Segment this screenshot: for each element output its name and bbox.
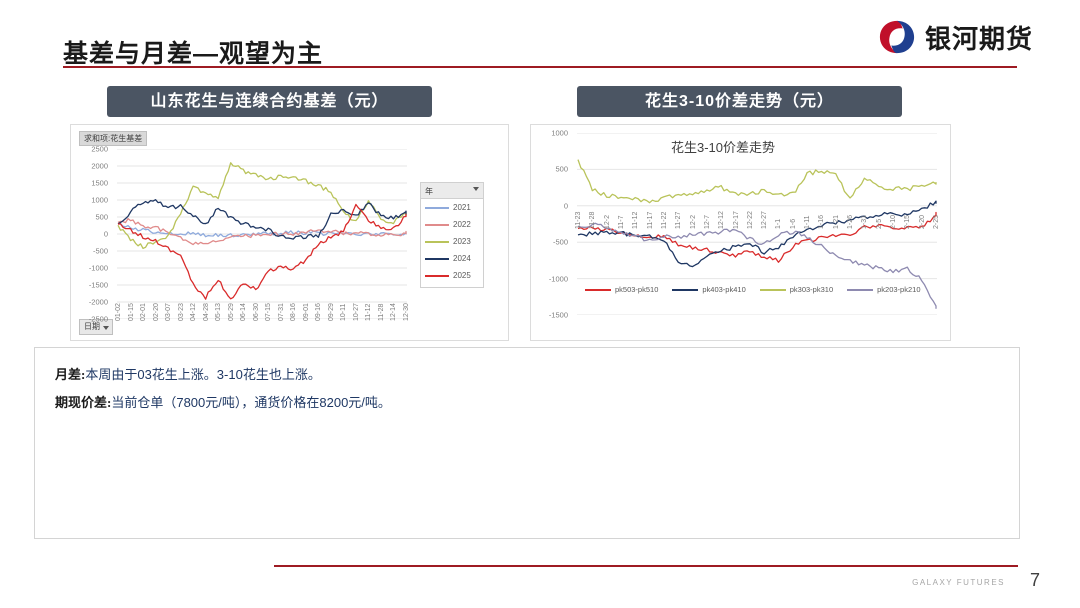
x-tick-label: 05-29	[228, 303, 235, 321]
x-tick-label: 11-23	[575, 212, 582, 229]
x-tick-label: 06-30	[253, 303, 260, 321]
x-tick-label: 1-31	[861, 215, 868, 229]
legend-item-2021[interactable]: 2021	[421, 199, 483, 216]
x-tick-label: 1-16	[818, 215, 825, 229]
x-tick-label: 04-12	[190, 303, 197, 321]
paragraph-basis-spread-label: 期现价差:	[55, 395, 111, 410]
legend-label: 2025	[453, 271, 471, 280]
x-tick-label: 03-23	[178, 303, 185, 321]
legend-label: 2023	[453, 237, 471, 246]
y-tick-label: 2000	[91, 162, 108, 171]
x-tick-label: 03-07	[165, 303, 172, 321]
x-tick-label: 12-14	[390, 303, 397, 321]
x-tick-label: 2-25	[933, 215, 940, 229]
legend-item-pk303-pk310[interactable]: pk303-pk310	[760, 285, 833, 294]
legend-swatch	[672, 289, 698, 291]
paragraph-month-spread-text: 本周由于03花生上涨。3-10花生也上涨。	[85, 367, 320, 382]
x-tick-label: 2-20	[919, 215, 926, 229]
x-tick-label: 1-6	[790, 219, 797, 229]
x-tick-label: 11-27	[675, 212, 682, 229]
x-tick-label: 09-16	[315, 303, 322, 321]
x-tick-label: 12-7	[704, 215, 711, 229]
x-tick-label: 07-31	[278, 303, 285, 321]
x-tick-label: 11-28	[589, 212, 596, 229]
x-tick-label: 11-17	[647, 212, 654, 229]
x-tick-label: 12-22	[747, 211, 754, 229]
legend-item-pk503-pk510[interactable]: pk503-pk510	[585, 285, 658, 294]
x-tick-label: 04-28	[203, 303, 210, 321]
y-tick-label: 0	[564, 201, 568, 210]
legend-swatch	[847, 289, 873, 291]
x-tick-label: 09-29	[328, 303, 335, 321]
y-tick-label: 1500	[91, 179, 108, 188]
legend-label: pk403-pk410	[702, 285, 745, 294]
legend-swatch	[425, 275, 449, 277]
legend-swatch	[425, 207, 449, 209]
x-tick-label: 2-15	[904, 215, 911, 229]
y-tick-label: -500	[93, 247, 108, 256]
pivot-field-label[interactable]: 求和项:花生基差	[79, 131, 147, 146]
legend-item-2023[interactable]: 2023	[421, 233, 483, 250]
y-tick-label: -1500	[549, 311, 568, 320]
paragraph-month-spread: 月差:本周由于03花生上涨。3-10花生也上涨。	[55, 364, 321, 383]
y-tick-label: -500	[553, 238, 568, 247]
legend-header[interactable]: 年	[421, 183, 483, 199]
x-tick-label: 12-2	[604, 215, 611, 229]
page-number: 7	[1030, 570, 1040, 591]
legend-item-pk203-pk210[interactable]: pk203-pk210	[847, 285, 920, 294]
y-axis-left: 25002000150010005000-500-1000-1500-2000-…	[71, 149, 114, 319]
x-tick-label: 1-1	[775, 219, 782, 229]
legend-item-2024[interactable]: 2024	[421, 250, 483, 267]
legend-swatch	[425, 258, 449, 260]
x-tick-label: 10-11	[340, 304, 347, 321]
legend-item-pk403-pk410[interactable]: pk403-pk410	[672, 285, 745, 294]
y-tick-label: 1000	[551, 129, 568, 138]
legend-swatch	[585, 289, 611, 291]
footer-divider	[274, 565, 1018, 567]
y-tick-label: -1500	[89, 281, 108, 290]
legend-label: pk503-pk510	[615, 285, 658, 294]
legend-label: pk203-pk210	[877, 285, 920, 294]
y-tick-label: -2500	[89, 315, 108, 324]
x-tick-label: 12-27	[761, 211, 768, 229]
x-tick-label: 11-12	[632, 212, 639, 229]
x-tick-label: 1-21	[833, 215, 840, 229]
x-tick-label: 05-13	[215, 303, 222, 321]
page-title: 基差与月差—观望为主	[63, 34, 323, 70]
x-tick-label: 09-01	[303, 303, 310, 321]
legend-rows: 20212022202320242025	[421, 199, 483, 284]
y-axis-right: 10005000-500-1000-1500	[531, 133, 574, 315]
commentary-box: 月差:本周由于03花生上涨。3-10花生也上涨。 期现价差:当前仓单（7800元…	[34, 347, 1020, 539]
y-tick-label: -1000	[549, 274, 568, 283]
x-tick-label: 11-12	[365, 304, 372, 321]
brand-logo: 银河期货	[878, 18, 1033, 56]
legend-label: 2021	[453, 203, 471, 212]
paragraph-basis-spread-text: 当前仓单（7800元/吨），通货价格在8200元/吨。	[111, 395, 391, 410]
legend-swatch	[760, 289, 786, 291]
x-tick-label: 2-10	[890, 215, 897, 229]
x-tick-label: 12-17	[733, 211, 740, 229]
slide: 基差与月差—观望为主 银河期货 山东花生与连续合约基差（元） 花生3-10价差走…	[0, 0, 1080, 608]
chart-peanut-3-10-spread: 花生3-10价差走势 10005000-500-1000-1500 11-231…	[530, 124, 951, 341]
paragraph-basis-spread: 期现价差:当前仓单（7800元/吨），通货价格在8200元/吨。	[55, 392, 391, 411]
x-tick-label: 02-20	[153, 303, 160, 321]
legend-swatch	[425, 224, 449, 226]
x-tick-label: 12-30	[403, 303, 410, 321]
x-tick-label: 07-15	[265, 303, 272, 321]
y-tick-label: 1000	[91, 196, 108, 205]
chevron-down-icon[interactable]	[473, 187, 479, 191]
y-tick-label: 500	[95, 213, 108, 222]
legend-item-2025[interactable]: 2025	[421, 267, 483, 284]
plot-area-left	[117, 149, 407, 319]
chart-banner-left: 山东花生与连续合约基差（元）	[107, 86, 432, 117]
x-tick-label: 1-11	[804, 216, 811, 230]
chart-banner-right: 花生3-10价差走势（元）	[577, 86, 902, 117]
x-tick-label: 06-14	[240, 303, 247, 321]
x-tick-label: 02-01	[140, 303, 147, 321]
galaxy-swirl-logo-icon	[878, 18, 916, 56]
x-tick-label: 12-2	[690, 215, 697, 229]
legend-label: 2024	[453, 254, 471, 263]
chart-shandong-peanut-basis: 求和项:花生基差 日期 25002000150010005000-500-100…	[70, 124, 509, 341]
x-tick-label: 10-27	[353, 303, 360, 321]
footer-brand: GALAXY FUTURES	[912, 578, 1005, 587]
x-axis-left: 01-0201-1502-0102-2003-0703-2304-1204-28…	[117, 321, 407, 341]
y-tick-label: 0	[104, 230, 108, 239]
legend-title: 年	[425, 186, 433, 197]
x-tick-label: 12-12	[718, 211, 725, 229]
y-tick-label: 2500	[91, 145, 108, 154]
paragraph-month-spread-label: 月差:	[55, 367, 85, 382]
year-legend-slicer[interactable]: 年 20212022202320242025	[420, 182, 484, 288]
brand-name: 银河期货	[925, 19, 1033, 56]
x-tick-label: 01-02	[115, 303, 122, 321]
x-axis-right: 11-2311-2812-211-711-1211-1711-2211-2712…	[577, 229, 937, 249]
x-tick-label: 01-15	[128, 303, 135, 321]
legend-label: 2022	[453, 220, 471, 229]
y-tick-label: -1000	[89, 264, 108, 273]
y-tick-label: -2000	[89, 298, 108, 307]
x-tick-label: 11-28	[378, 304, 385, 321]
x-tick-label: 2-5	[876, 219, 883, 229]
x-tick-label: 08-16	[290, 303, 297, 321]
title-divider	[63, 66, 1017, 68]
series-legend-right: pk503-pk510pk403-pk410pk303-pk310pk203-p…	[585, 285, 921, 294]
y-tick-label: 500	[555, 165, 568, 174]
x-tick-label: 11-7	[618, 216, 625, 230]
x-tick-label: 11-22	[661, 212, 668, 229]
legend-item-2022[interactable]: 2022	[421, 216, 483, 233]
legend-label: pk303-pk310	[790, 285, 833, 294]
legend-swatch	[425, 241, 449, 243]
x-tick-label: 1-26	[847, 215, 854, 229]
